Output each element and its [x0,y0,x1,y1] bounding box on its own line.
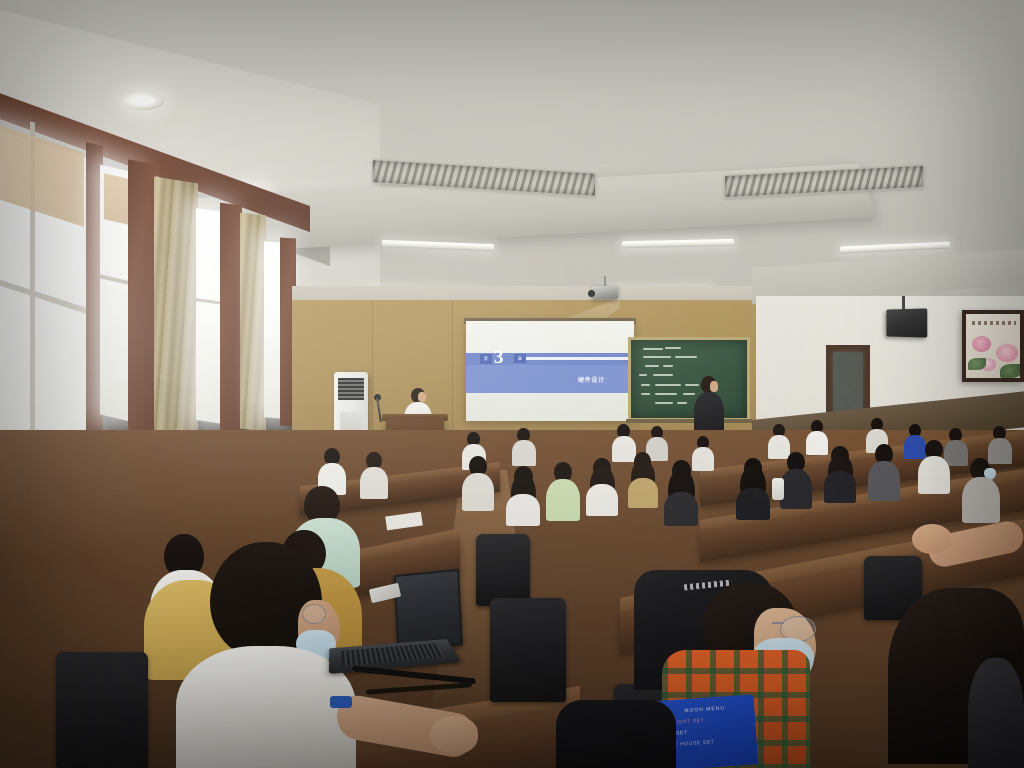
torso [780,469,812,509]
chalk-line [653,374,673,376]
list-item [968,612,1024,768]
front-wall-seam-2 [452,300,453,450]
list-item [628,452,658,504]
projection-screen: 第 3 章 硬件设计 [466,321,634,421]
list-item [360,452,388,496]
lecture-hall-photo: 第 3 章 硬件设计 电 信 学 [0,0,1024,768]
window-pier-2 [128,159,156,434]
list-item [736,458,770,514]
blue-object-on-desk [330,696,352,708]
chalk-line [641,393,650,395]
torso [360,467,388,499]
torso [506,494,540,526]
list-item [462,456,494,508]
chalk-line [655,393,677,395]
peony-flower [996,344,1018,362]
list-item [962,458,1000,520]
chair[interactable] [56,652,148,768]
foreground-dark-mass [556,700,676,768]
torso [694,392,724,434]
list-item [512,428,536,462]
torso [664,492,698,526]
chair[interactable] [490,598,566,702]
face [418,392,426,402]
list-item [546,462,580,518]
list-item [824,446,856,500]
torso [736,488,770,520]
chalk-line [639,374,647,376]
list-item [586,458,618,512]
window-pier-3 [220,203,242,438]
torso [868,461,900,501]
glasses-bridge [772,622,784,624]
framed-peony-painting [962,310,1024,382]
slide-chapter-prefix: 第 [480,354,492,364]
slide-chapter-suffix: 章 [514,354,526,363]
peony-flower [972,336,991,352]
projector-lens-icon [588,290,595,297]
laptop-screen [394,569,463,647]
peony-leaf [1000,364,1022,378]
air-conditioner-grille [338,378,364,400]
hand [430,716,478,754]
slide-band-lower [466,365,634,393]
panel-text-1: MOON MENU [684,705,725,714]
chalk-line [675,356,697,358]
slide-title: 硬件设计 [578,375,605,384]
torso [824,471,856,503]
window-pane-3 [196,208,222,424]
front-wall-seam-1 [372,300,373,450]
list-item [780,452,812,506]
list-item [868,444,900,498]
person-at-blackboard [692,376,726,432]
window-outside-building-2 [104,173,128,225]
list-item [506,466,540,522]
chalk-line [655,384,681,386]
hand-right [912,524,952,554]
chalk-line [663,365,673,367]
torso [962,477,1000,523]
chalk-line [645,365,659,367]
torso [968,658,1024,768]
list-item [664,460,698,520]
chair[interactable] [476,534,530,606]
torso [628,478,658,508]
torso [546,479,580,521]
slide-chapter-number: 3 [494,348,504,367]
blackboard [628,337,750,421]
torso [512,440,536,466]
torso [586,484,618,516]
chalk-line [643,348,663,350]
chalk-line [665,347,681,349]
glasses-icon [302,604,326,624]
peony-leaf [968,358,986,370]
slide-divider-line [522,357,628,360]
chalk-line [643,356,671,358]
chalk-tray [626,419,752,423]
curtain-1-shadow [154,177,198,460]
torso [918,456,950,494]
list-item [988,426,1012,460]
ceiling-projector [592,286,618,299]
curtain-2-shadow [240,213,266,432]
face [710,381,718,392]
painting-calligraphy [972,321,1016,325]
chalk-line [641,384,650,386]
chalk-line [677,402,687,404]
list-item [918,440,950,492]
chalk-line [655,402,673,404]
water-bottle[interactable] [772,478,784,500]
torso [462,473,494,511]
wall-speaker [886,308,927,337]
